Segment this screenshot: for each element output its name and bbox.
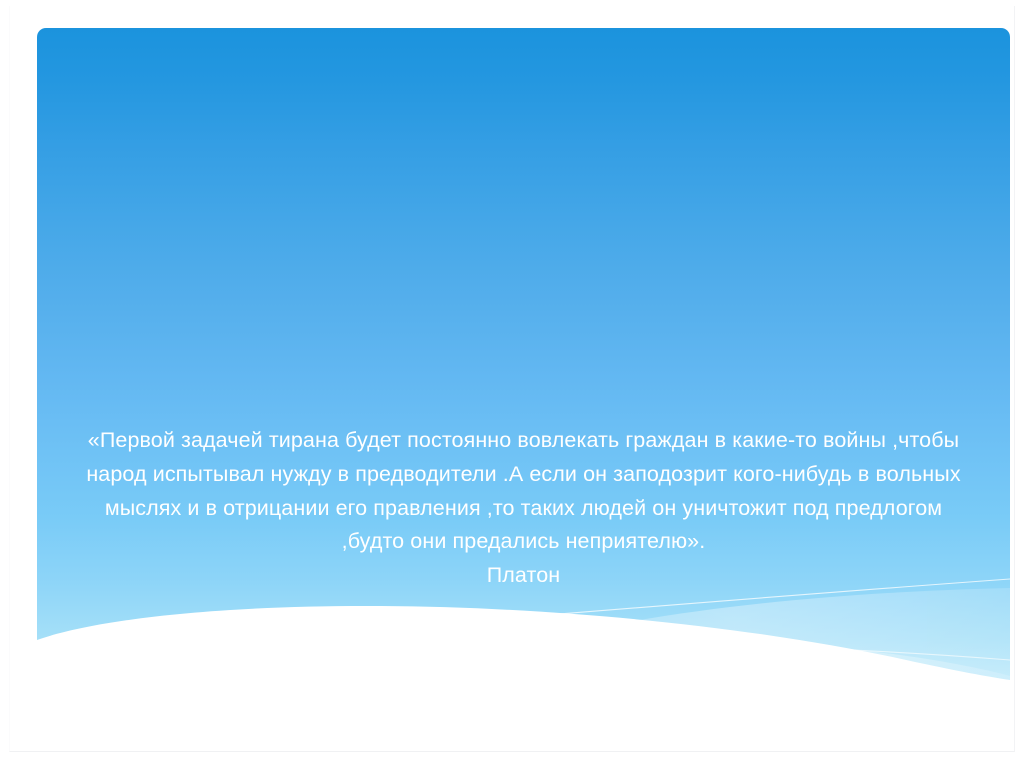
wave-band-pale-lower <box>37 637 1010 681</box>
wave-main-white <box>37 606 1010 681</box>
slide-viewport: «Первой задачей тирана будет постоянно в… <box>0 0 1024 767</box>
slide-frame: «Первой задачей тирана будет постоянно в… <box>9 6 1015 752</box>
quote-body-text: «Первой задачей тирана будет постоянно в… <box>77 424 970 559</box>
wave-hairline-b <box>97 645 1010 680</box>
wave-band-pale-upper <box>397 588 1010 681</box>
slide-background-canvas: «Первой задачей тирана будет постоянно в… <box>37 28 1010 681</box>
quote-text-block: «Первой задачей тирана будет постоянно в… <box>77 424 970 593</box>
quote-attribution-text: Платон <box>77 559 970 593</box>
